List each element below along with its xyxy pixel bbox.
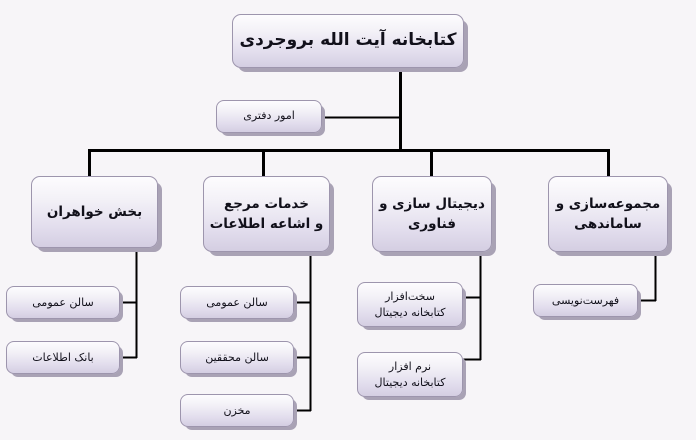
node-leaf-label-line: مخزن [223,403,250,419]
node-department-label-line: خدمات مرجع [224,194,309,214]
node-leaf-label-line: کتابخانه دیجیتال [375,305,446,321]
node-leaf-label-line: سخت‌افزار [385,289,435,305]
node-department-reference-services[interactable]: خدمات مرجع و اشاعه اطلاعات [203,176,330,252]
node-department-label-line: ساماندهی [574,214,642,234]
node-leaf-digital-library-software[interactable]: نرم افزار کتابخانه دیجیتال [357,352,463,397]
node-leaf-label-line: سالن عمومی [32,295,93,311]
node-leaf-cataloging[interactable]: فهرست‌نویسی [533,284,638,317]
node-leaf-public-hall-2[interactable]: سالن عمومی [180,286,294,319]
node-department-sisters-section[interactable]: بخش خواهران [31,176,158,248]
node-leaf-label-line: سالن محققین [205,350,269,366]
node-department-digitization-technology[interactable]: دیجیتال سازی و فناوری [372,176,492,252]
node-department-label-line: دیجیتال سازی و [379,194,485,214]
node-root-label: کتابخانه آیت الله بروجردی [240,28,457,54]
node-department-label-line: و اشاعه اطلاعات [210,214,324,234]
node-root[interactable]: کتابخانه آیت الله بروجردی [232,14,464,68]
node-leaf-label-line: فهرست‌نویسی [552,293,619,309]
node-office-affairs[interactable]: امور دفتری [216,100,322,133]
node-department-label-line: مجموعه‌سازی و [556,194,661,214]
node-leaf-repository[interactable]: مخزن [180,394,294,427]
node-leaf-label-line: نرم افزار [389,359,431,375]
org-chart: کتابخانه آیت الله بروجردی امور دفتری بخش… [0,0,696,440]
node-leaf-researchers-hall[interactable]: سالن محققین [180,341,294,374]
node-department-label-line: بخش خواهران [47,202,142,222]
node-leaf-public-hall-1[interactable]: سالن عمومی [6,286,120,319]
node-office-affairs-label: امور دفتری [243,108,295,125]
node-leaf-label-line: بانک اطلاعات [32,350,93,366]
node-department-label-line: فناوری [408,214,456,234]
node-department-collection-development[interactable]: مجموعه‌سازی و ساماندهی [548,176,668,252]
node-leaf-digital-library-hardware[interactable]: سخت‌افزار کتابخانه دیجیتال [357,282,463,327]
node-leaf-label-line: کتابخانه دیجیتال [375,375,446,391]
node-leaf-label-line: سالن عمومی [206,295,267,311]
node-leaf-information-bank[interactable]: بانک اطلاعات [6,341,120,374]
